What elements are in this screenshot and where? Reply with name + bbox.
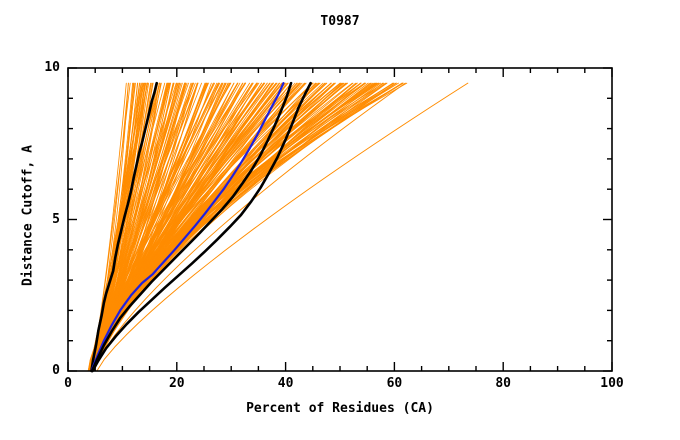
x-axis-label: Percent of Residues (CA) <box>0 401 680 416</box>
x-tick-label: 100 <box>582 376 642 391</box>
x-tick-label: 40 <box>256 376 316 391</box>
y-tick-label: 0 <box>20 363 60 378</box>
y-tick-label: 5 <box>20 212 60 227</box>
x-tick-label: 80 <box>473 376 533 391</box>
y-tick-label: 10 <box>20 60 60 75</box>
curve-layer <box>88 83 468 371</box>
x-tick-label: 0 <box>38 376 98 391</box>
x-tick-label: 60 <box>364 376 424 391</box>
x-tick-label: 20 <box>147 376 207 391</box>
chart-canvas <box>0 0 680 440</box>
